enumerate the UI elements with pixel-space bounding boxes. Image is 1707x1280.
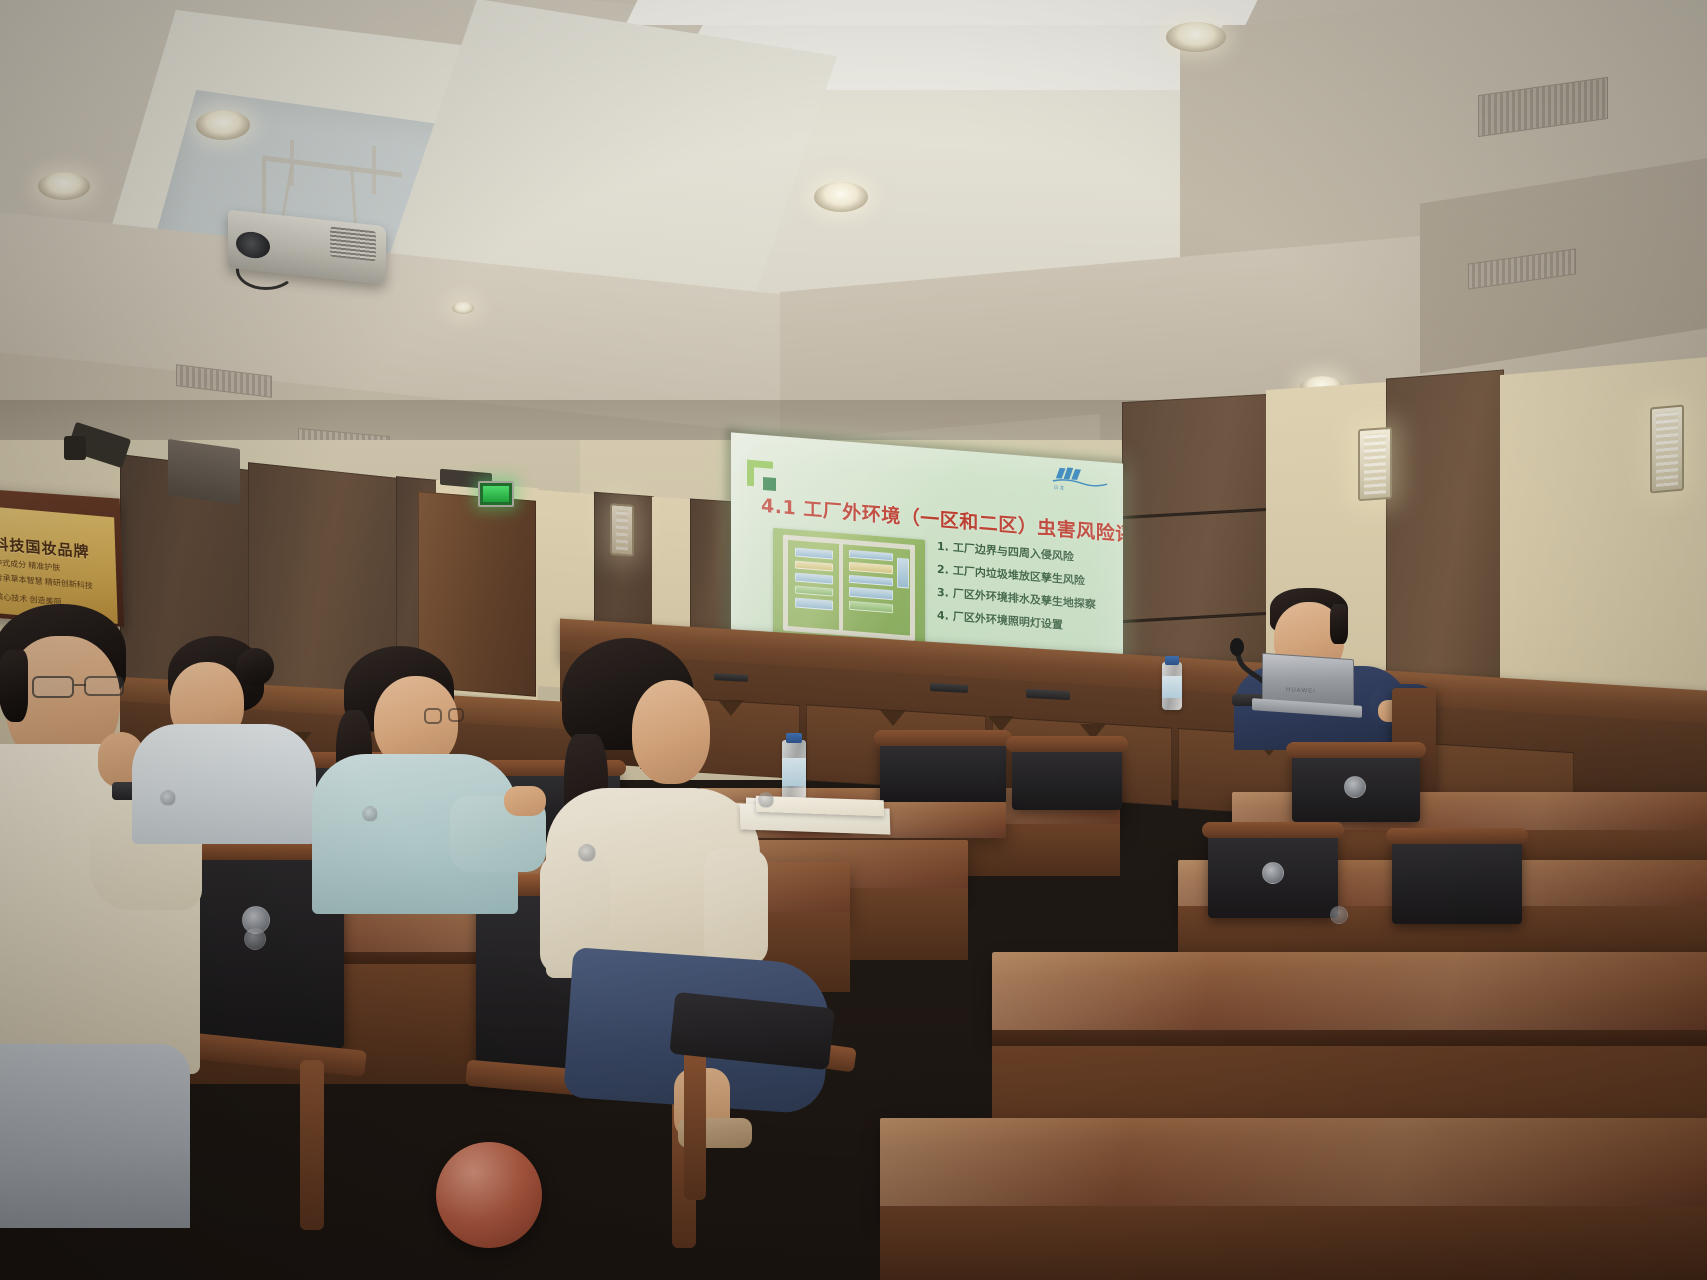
exit-sign [478,481,514,507]
attendee-a2-torso [132,724,316,844]
map-building-1 [795,547,833,559]
wall-sconce-1-diffuser [1364,433,1386,495]
attendee-a4-arm-right [704,848,768,966]
slide-bullet-1: 1.工厂边界与四周入侵风险 [937,541,1117,566]
slide-bullet-2: 2.工厂内垃圾堆放区孳生风险 [937,564,1117,589]
company-wave-logo-icon: 日 龙 [1051,464,1109,495]
map-building-5 [795,597,833,610]
chair-right-back-1[interactable] [1292,752,1420,822]
map-building-10 [849,601,893,614]
slide-bullet-4-number: 4. [937,609,949,623]
attendee-middle-ponytail [328,646,538,906]
slide-bullet-3-number: 3. [937,586,949,600]
chair-center-back-1-back [880,740,1006,804]
attendee-a2-bun [236,648,274,686]
wall-sconce-3 [610,503,634,557]
exit-sign-glow-icon [483,486,509,502]
presenter-hair-side [1330,604,1348,644]
chair-center-back-2[interactable] [1012,746,1122,810]
slide-bullet-4: 4.厂区外环境照明灯设置 [937,610,1117,635]
map-building-9 [849,587,893,601]
projector-vent [330,227,376,262]
chair-right-mid-2-frame [1386,828,1528,844]
downlight-1 [196,110,250,140]
map-building-6 [849,550,893,562]
presenter-water-bottle[interactable] [1162,662,1182,710]
desk-right-front[interactable] [992,952,1707,1038]
slide-bullet-1-number: 1. [937,540,949,554]
slide-bullet-4-text: 厂区外环境照明灯设置 [953,610,1063,632]
wall-sconce-2 [1650,405,1684,494]
chair-center-a4-leg [684,1050,706,1200]
slide-bullet-3: 3.厂区外环境排水及孳生地探察 [937,587,1117,612]
chair-right-mid-2-back [1392,838,1522,924]
map-building-4 [795,585,833,596]
map-building-8 [849,575,893,587]
map-building-11 [897,558,909,589]
slide-bullet-list: 1.工厂边界与四周入侵风险 2.工厂内垃圾堆放区孳生风险 3.厂区外环境排水及孳… [937,541,1117,647]
attendee-a4-head [632,680,710,784]
downlight-6 [452,302,474,314]
attendee-a1-sideburn [0,650,28,722]
desk-badge-2 [362,806,378,822]
chair-right-mid-1-frame [1202,822,1344,838]
chair-center-back-2-back [1012,746,1122,810]
chair-center-back-2-frame [1006,736,1128,752]
presenter-bottle-label [1162,676,1182,698]
chair-right-mid-1-badge-icon [1262,862,1284,884]
podium-ornament-2 [880,710,906,726]
attendee-a1-glasses-icon [32,676,124,698]
desk-right-foreground-apron [880,1206,1707,1280]
ceiling-recess-top-inner [625,0,1274,25]
wall-sconce-2-diffuser [1656,411,1678,487]
svg-text:日 龙: 日 龙 [1054,484,1065,492]
slide-factory-map-image [773,528,925,648]
chair-right-mid-2[interactable] [1392,838,1522,924]
chair-right-back-1-frame [1286,742,1426,758]
desk-badge-1 [160,790,176,806]
desk-badge-4 [758,792,774,808]
downlight-2 [38,172,90,200]
desk-badge-3 [578,844,596,862]
water-bottle-center-cap [786,733,802,743]
desk-right-foreground-sheen [880,1118,1707,1218]
wall-sconce-1 [1358,427,1392,501]
map-road-spine [839,543,843,631]
presenter-bottle-cap [1165,656,1179,665]
speaker-mount-bracket [64,436,86,460]
attendee-left-bun [152,632,322,812]
slide-bullet-1-text: 工厂边界与四周入侵风险 [953,541,1074,564]
map-building-3 [795,572,833,584]
conference-room-photo: 科技国妆品牌 中式成分 精准护肤 传承草本智慧 精研创新科技 核心技术 创造美丽… [0,0,1707,1280]
slide-bullet-3-text: 厂区外环境排水及孳生地探察 [953,587,1096,611]
downlight-4 [1166,22,1226,52]
map-road-outer-right [910,545,915,641]
wall-speaker [168,439,240,505]
slide-bullet-2-text: 工厂内垃圾堆放区孳生风险 [953,564,1085,588]
attendee-a1-trousers [0,1044,190,1228]
desk-badge-6 [244,928,266,950]
slide-bullet-2-number: 2. [937,563,949,577]
desk-right-front-sheen [992,952,1707,1038]
downlight-3 [814,182,868,212]
chair-center-back-1[interactable] [880,740,1006,804]
desk-right-foreground[interactable] [880,1118,1707,1218]
attendee-a3-glasses-icon [424,708,464,724]
map-building-7 [849,562,893,575]
wall-sconce-3-diffuser [616,510,628,551]
water-bottle-center[interactable] [782,740,806,800]
slide-corner-accent-icon [747,460,773,488]
water-bottle-center-label [782,758,806,786]
decor-sphere [436,1142,542,1248]
map-road-outer-left [783,535,788,631]
map-building-2 [795,560,833,571]
chair-right-back-1-badge-icon [1344,776,1366,798]
chair-right-mid-1[interactable] [1208,832,1338,918]
chair-left-3-leg [300,1060,324,1230]
chair-center-back-1-frame [874,730,1012,746]
desk-badge-5 [1330,906,1348,924]
